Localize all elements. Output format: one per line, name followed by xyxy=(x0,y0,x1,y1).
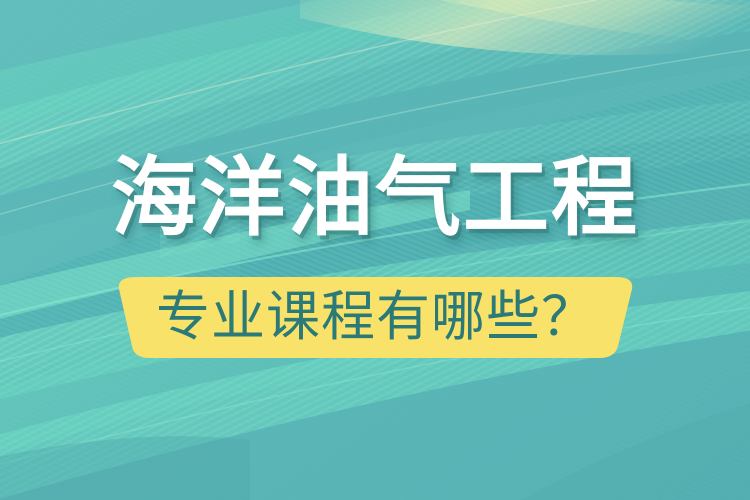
subtitle-banner: 专业课程有哪些？ xyxy=(118,277,634,358)
wave-background-graphic xyxy=(0,0,750,500)
subtitle-text: 专业课程有哪些？ xyxy=(118,277,634,358)
page-title: 海洋油气工程 xyxy=(0,152,750,244)
promo-banner: 海洋油气工程 专业课程有哪些？ xyxy=(0,0,750,500)
